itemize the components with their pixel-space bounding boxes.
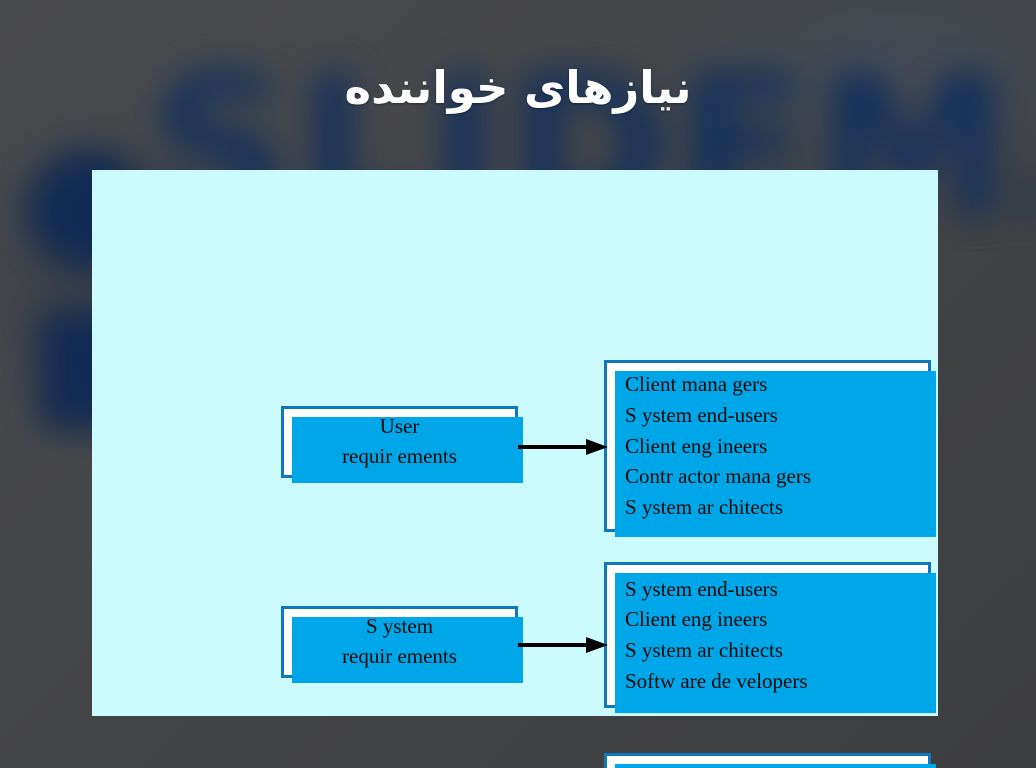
box-user-stakeholders[interactable]: Client mana gers S ystem end-users Clien… — [604, 360, 931, 532]
box-user-requirements[interactable]: User requir ements — [281, 406, 518, 478]
box-user-stakeholders-text: Client mana gers S ystem end-users Clien… — [625, 369, 811, 523]
arrow-head — [586, 637, 608, 653]
box-system-requirements-text: S ystem requir ements — [342, 612, 457, 672]
box-line: Client eng ineers — [625, 431, 811, 462]
box-line: Client mana gers — [625, 369, 811, 400]
box-line: S ystem — [342, 612, 457, 642]
box-line: Softw are de velopers — [625, 666, 808, 697]
arrow-system-icon — [518, 636, 608, 654]
page-title: نیازهای خواننده — [0, 62, 1036, 114]
arrow-head — [586, 439, 608, 455]
box-design-stakeholders[interactable]: Client eng ineers (perha ps) S ystem ar … — [604, 753, 931, 768]
box-line: S ystem end-users — [625, 574, 808, 605]
box-line: S ystem end-users — [625, 400, 811, 431]
box-system-requirements[interactable]: S ystem requir ements — [281, 606, 518, 678]
box-line: Contr actor mana gers — [625, 461, 811, 492]
box-system-stakeholders-text: S ystem end-users Client eng ineers S ys… — [625, 574, 808, 697]
arrow-shaft — [518, 643, 590, 647]
box-line: User — [342, 412, 457, 442]
arrow-user-icon — [518, 438, 608, 456]
box-line: Client eng ineers — [625, 604, 808, 635]
box-line: requir ements — [342, 642, 457, 672]
diagram-panel: User requir ements Client mana gers S ys… — [92, 170, 938, 716]
box-line: requir ements — [342, 442, 457, 472]
box-line: S ystem ar chitects — [625, 492, 811, 523]
arrow-shaft — [518, 445, 590, 449]
box-line: S ystem ar chitects — [625, 635, 808, 666]
box-user-requirements-text: User requir ements — [342, 412, 457, 472]
box-system-stakeholders[interactable]: S ystem end-users Client eng ineers S ys… — [604, 562, 931, 708]
